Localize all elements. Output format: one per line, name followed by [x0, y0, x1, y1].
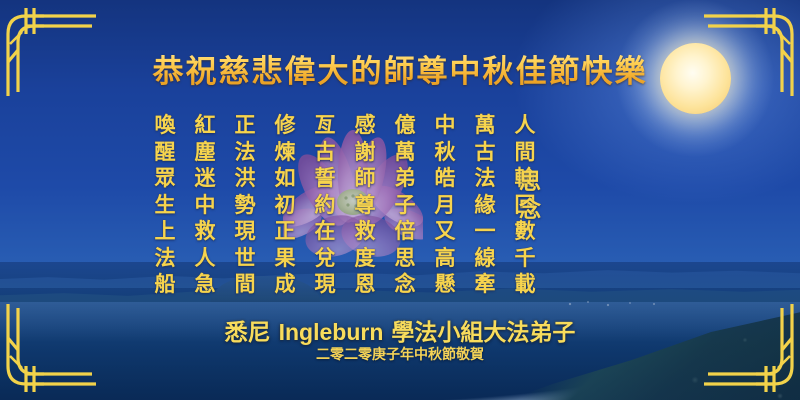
- date-line: 二零二零庚子年中秋節敬賀: [0, 344, 800, 364]
- poem-char: 誓: [315, 165, 336, 192]
- poem-char: 如: [275, 165, 296, 192]
- poem-char: 人: [195, 245, 216, 272]
- poem-char: 線: [475, 245, 496, 272]
- poem-char: 萬: [475, 112, 496, 139]
- poem-char: 子: [395, 192, 416, 219]
- poem-char: 救: [355, 218, 376, 245]
- poem-char: 間: [235, 271, 256, 298]
- page-title: 恭祝慈悲偉大的師尊中秋佳節快樂: [0, 46, 800, 91]
- poem-char: 生: [155, 192, 176, 219]
- poem-char: 皓: [435, 165, 456, 192]
- poem-char: 煉: [275, 139, 296, 166]
- poem-column: 亙 古 誓 約 在 兌 現: [305, 112, 345, 298]
- signature-suffix: 學法小組大法弟子: [391, 319, 575, 346]
- poem-char: 勢: [235, 192, 256, 219]
- poem-char: 倍: [395, 218, 416, 245]
- poem-char: 師: [355, 165, 376, 192]
- poem-char: 萬: [395, 139, 416, 166]
- poem-char: 又: [435, 218, 456, 245]
- poem-column: 萬 古 法 緣 一 線 牽: [465, 112, 505, 298]
- poem-char: 度: [355, 245, 376, 272]
- poem-char: 現: [315, 271, 336, 298]
- poem-char: 弟: [395, 165, 416, 192]
- poem-char: 修: [275, 112, 296, 139]
- poem-char: 念: [395, 271, 416, 298]
- poem-char: 載: [515, 271, 536, 298]
- signature-latin: Ingleburn: [279, 319, 384, 345]
- signature-prefix: 悉尼: [225, 319, 271, 346]
- poem-char: 高: [435, 245, 456, 272]
- poem-column: 修 煉 如 初 正 果 成: [265, 112, 305, 298]
- poem-char: 迷: [195, 165, 216, 192]
- poem-char: 初: [275, 192, 296, 219]
- poem-char: 中: [195, 192, 216, 219]
- poem-char: 在: [315, 218, 336, 245]
- poem-char: 思: [395, 245, 416, 272]
- poem-char: 千: [515, 245, 536, 272]
- poem-char: 正: [275, 218, 296, 245]
- poem-char: 懸: [435, 271, 456, 298]
- poem-char: 亙: [315, 112, 336, 139]
- poem-char: 果: [275, 245, 296, 272]
- poem-char: 億: [395, 112, 416, 139]
- poem-char: 法: [155, 245, 176, 272]
- poem-char: 世: [235, 245, 256, 272]
- poem-char: 感: [355, 112, 376, 139]
- poem-char: 中: [435, 112, 456, 139]
- poem-column: 中 秋 皓 月 又 高 懸: [425, 112, 465, 298]
- poem-char: 古: [475, 139, 496, 166]
- poem-char: 成: [275, 271, 296, 298]
- poem-char: 救: [195, 218, 216, 245]
- poem-char: 船: [155, 271, 176, 298]
- poem-column: 億 萬 弟 子 倍 思 念: [385, 112, 425, 298]
- poem-char: 塵: [195, 139, 216, 166]
- poem-char: 紅: [195, 112, 216, 139]
- poem-char: 間: [515, 139, 536, 166]
- poem-char: 現: [235, 218, 256, 245]
- poem-column: 喚 醒 眾 生 上 法 船: [145, 112, 185, 298]
- poem-char: 喚: [155, 112, 176, 139]
- aside-char-2: 念: [519, 196, 541, 224]
- poem-char: 緣: [475, 192, 496, 219]
- poem-char: 急: [195, 271, 216, 298]
- poem-char: 一: [475, 218, 496, 245]
- poem-char: 法: [475, 165, 496, 192]
- poem-column: 感 謝 師 尊 救 度 恩: [345, 112, 385, 298]
- poem-char: 人: [515, 112, 536, 139]
- poem-char: 約: [315, 192, 336, 219]
- signature-line: 悉尼 Ingleburn 學法小組大法弟子: [0, 313, 800, 347]
- poem-char: 正: [235, 112, 256, 139]
- poem-char: 法: [235, 139, 256, 166]
- poem-char: 秋: [435, 139, 456, 166]
- aside-char-1: 思: [519, 168, 541, 196]
- poem-column: 正 法 洪 勢 現 世 間: [225, 112, 265, 298]
- mid-autumn-greeting-card: 恭祝慈悲偉大的師尊中秋佳節快樂 人 間 輪 回 數 千 載 萬 古 法 緣 一 …: [0, 0, 800, 400]
- poem-char: 兌: [315, 245, 336, 272]
- poem-column: 紅 塵 迷 中 救 人 急: [185, 112, 225, 298]
- poem-char: 上: [155, 218, 176, 245]
- poem-char: 醒: [155, 139, 176, 166]
- poem-char: 月: [435, 192, 456, 219]
- poem-char: 恩: [355, 271, 376, 298]
- poem-grid: 人 間 輪 回 數 千 載 萬 古 法 緣 一 線 牽 中 秋 皓 月 又 高 …: [145, 112, 545, 298]
- aside-vertical-text: 思 念: [505, 168, 555, 224]
- poem-char: 尊: [355, 192, 376, 219]
- poem-char: 牽: [475, 271, 496, 298]
- poem-char: 洪: [235, 165, 256, 192]
- poem-char: 古: [315, 139, 336, 166]
- poem-char: 眾: [155, 165, 176, 192]
- poem-char: 謝: [355, 139, 376, 166]
